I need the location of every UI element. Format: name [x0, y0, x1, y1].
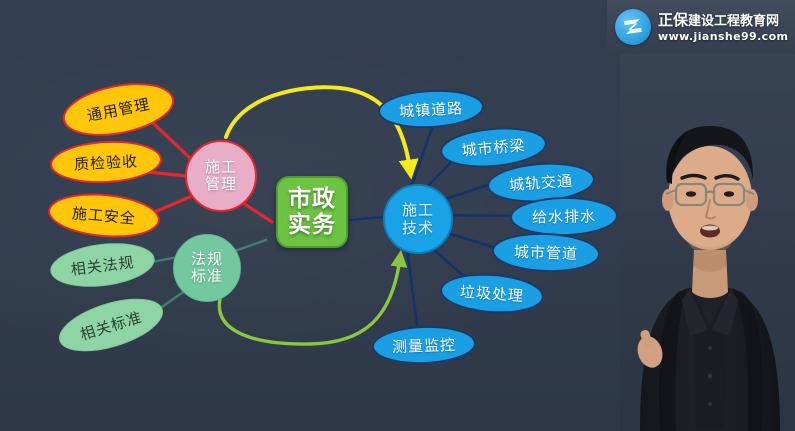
hub-construction-technology[interactable]: 施工 技术	[383, 184, 453, 254]
brand-logo-icon	[615, 9, 651, 45]
hub-label-line2: 管理	[205, 176, 237, 193]
leaf-label: 相关标准	[77, 306, 144, 345]
center-node-municipal-practice[interactable]: 市政 实务	[276, 176, 348, 248]
leaf-label: 垃圾处理	[459, 281, 524, 306]
hub-construction-management[interactable]: 施工 管理	[185, 140, 257, 212]
yellow-arrow	[226, 87, 410, 170]
leaf-label: 城镇道路	[398, 97, 463, 121]
presenter-video	[620, 0, 795, 431]
leaf-label: 给水排水	[532, 205, 596, 227]
hub-label-line1: 施工	[205, 159, 237, 176]
site-watermark: 正保建设工程教育网 www.jianshe99.com	[607, 0, 795, 54]
leaf-label: 城轨交通	[508, 170, 573, 195]
watermark-brand: 正保建设工程教育网	[658, 13, 788, 28]
leaf-label: 城市桥梁	[461, 134, 527, 160]
center-label-line2: 实务	[288, 212, 336, 238]
watermark-brand-suffix: 建设工程教育网	[688, 14, 779, 29]
hub-label-line1: 施工	[402, 201, 434, 219]
hub-laws-standards[interactable]: 法规 标准	[173, 234, 241, 302]
watermark-brand-main: 正保	[658, 11, 688, 29]
leaf-label: 通用管理	[85, 93, 152, 126]
leaf-label: 相关法规	[69, 251, 135, 280]
hub-label-line2: 技术	[402, 219, 434, 237]
video-frame: 通用管理 质检验收 施工安全 相关法规 相关标准 城镇道路 城市桥梁 城轨交通 …	[0, 0, 795, 431]
leaf-label: 城市管道	[514, 241, 579, 264]
center-label-line1: 市政	[288, 186, 336, 212]
leaf-label: 测量监控	[392, 333, 457, 356]
green-arrow	[219, 258, 400, 344]
hub-label-line1: 法规	[191, 251, 223, 268]
leaf-label: 质检验收	[73, 150, 138, 174]
leaf-label: 施工安全	[71, 202, 137, 228]
hub-label-line2: 标准	[191, 268, 223, 285]
watermark-url: www.jianshe99.com	[658, 31, 788, 42]
